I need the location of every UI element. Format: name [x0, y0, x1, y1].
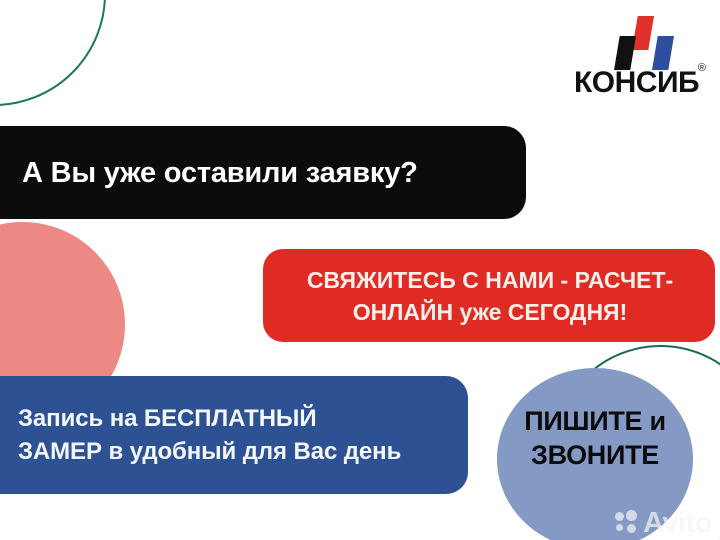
registered-trademark-icon: ® — [698, 62, 706, 74]
red-cta-line-1: СВЯЖИТЕСЬ С НАМИ - РАСЧЕТ- — [307, 264, 673, 296]
blue-cta-line-2: ЗАМЕР в удобный для Вас день — [18, 435, 401, 468]
headline-banner: А Вы уже оставили заявку? — [0, 126, 526, 219]
logo-parallelogram-red-icon — [632, 16, 654, 50]
green-circle-outline-top-left — [0, 0, 106, 106]
logo-parallelogram-black-icon — [614, 36, 636, 70]
company-logo: КОНСИБ ® — [574, 16, 706, 100]
red-cta-banner: СВЯЖИТЕСЬ С НАМИ - РАСЧЕТ- ОНЛАЙН уже СЕ… — [263, 249, 715, 342]
circle-cta-text: ПИШИТЕ и ЗВОНИТЕ — [495, 404, 695, 472]
circle-cta-line-1: ПИШИТЕ и — [495, 404, 695, 438]
logo-wordmark: КОНСИБ — [574, 66, 706, 100]
blue-cta-text: Запись на БЕСПЛАТНЫЙ ЗАМЕР в удобный для… — [18, 402, 401, 468]
logo-parallelogram-blue-icon — [652, 36, 674, 70]
blue-cta-line-1: Запись на БЕСПЛАТНЫЙ — [18, 402, 401, 435]
promo-banner: КОНСИБ ® А Вы уже оставили заявку? СВЯЖИ… — [0, 0, 720, 540]
red-cta-line-2: ОНЛАЙН уже СЕГОДНЯ! — [307, 296, 673, 328]
logo-mark-icon — [602, 16, 688, 68]
blue-cta-banner: Запись на БЕСПЛАТНЫЙ ЗАМЕР в удобный для… — [0, 376, 468, 494]
circle-cta-line-2: ЗВОНИТЕ — [495, 438, 695, 472]
red-cta-text: СВЯЖИТЕСЬ С НАМИ - РАСЧЕТ- ОНЛАЙН уже СЕ… — [307, 264, 673, 328]
headline-text: А Вы уже оставили заявку? — [22, 156, 418, 190]
